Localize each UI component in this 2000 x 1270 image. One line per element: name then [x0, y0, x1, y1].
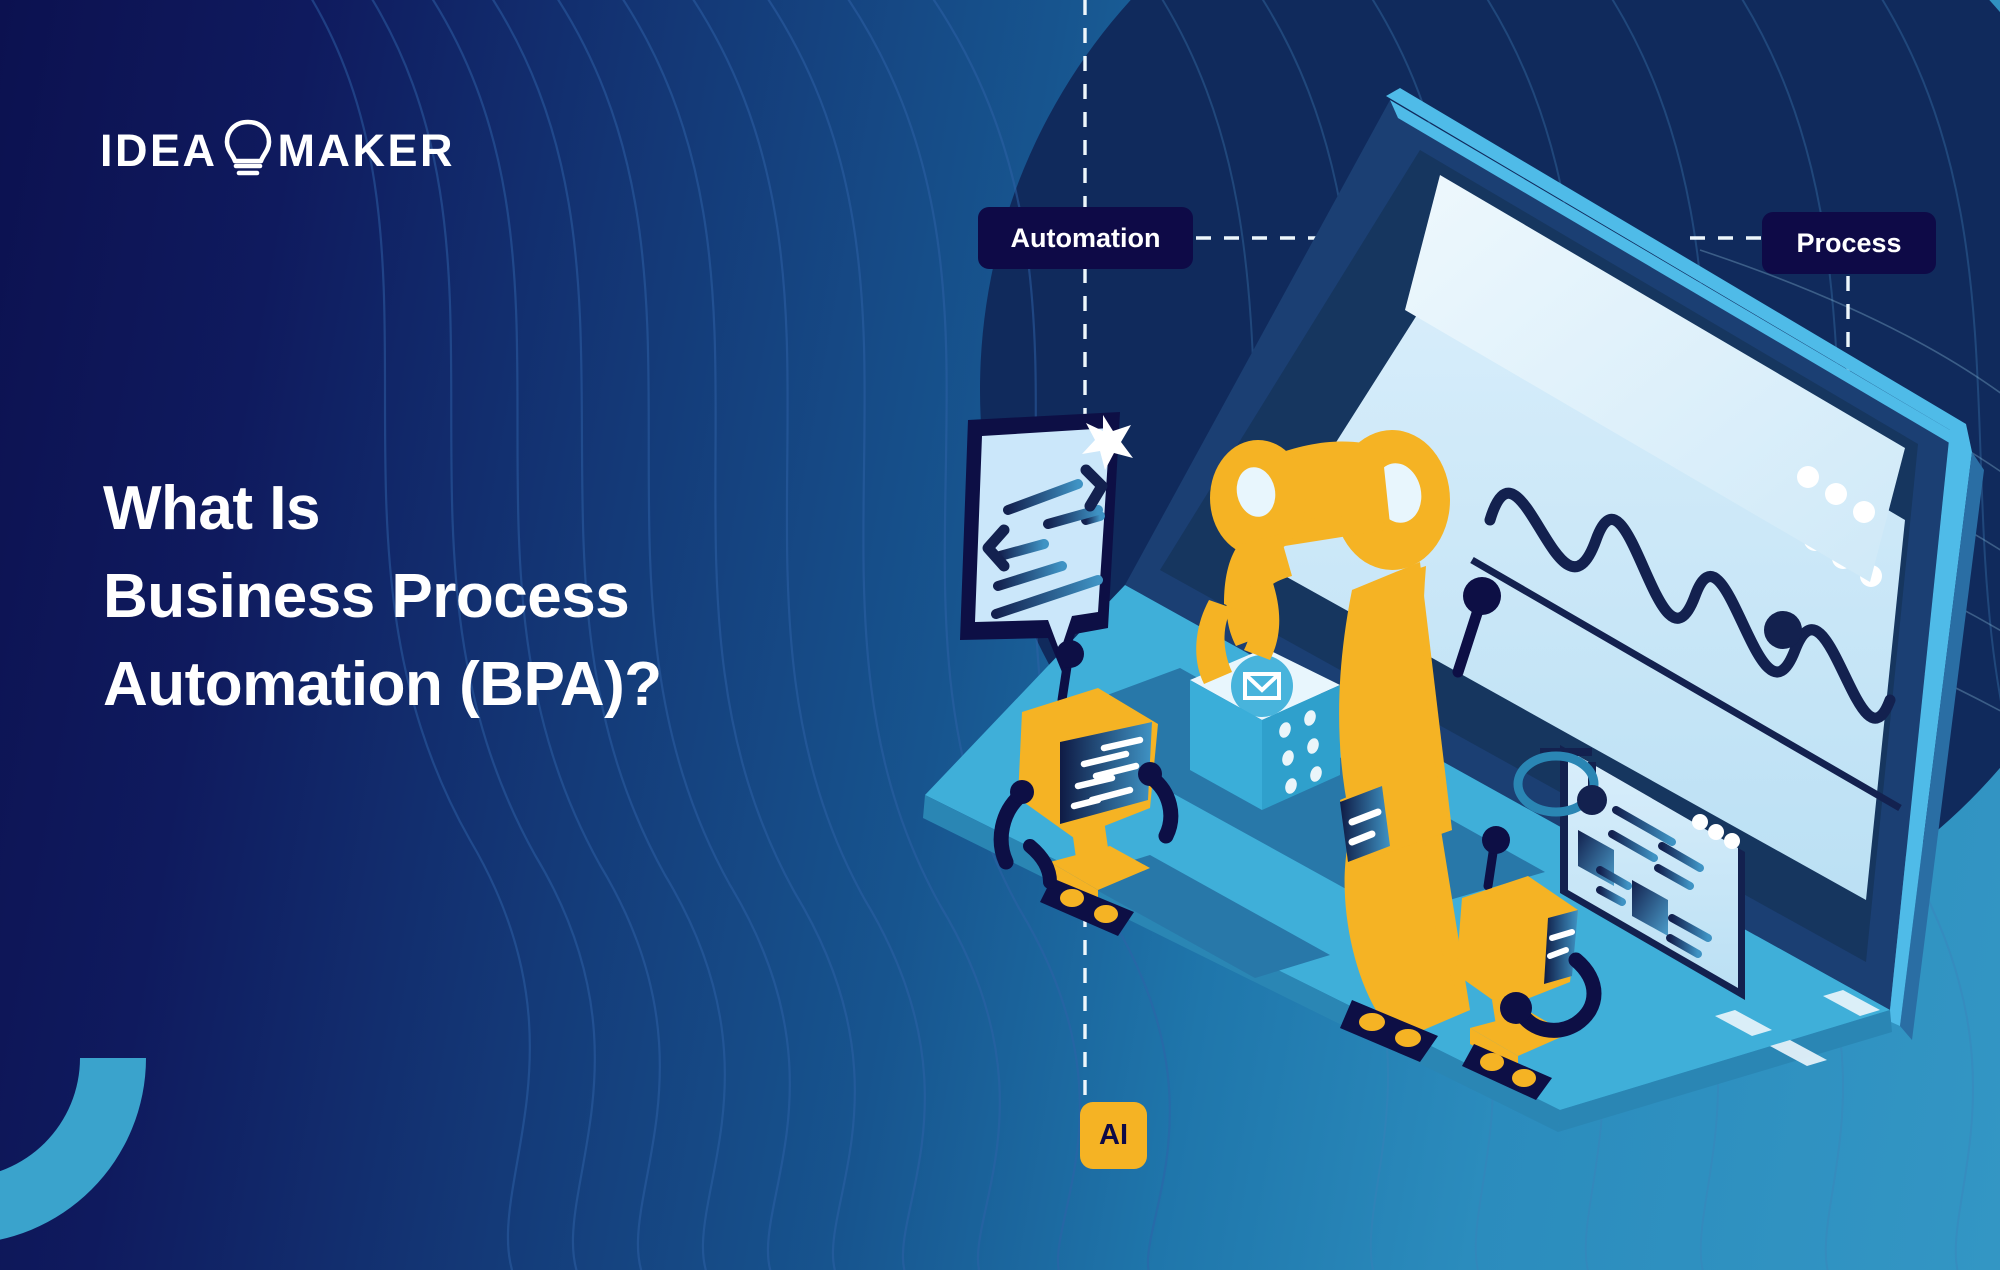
- lightbulb-icon: [222, 118, 274, 182]
- badge-automation[interactable]: Automation: [978, 207, 1193, 269]
- page-title: What Is Business Process Automation (BPA…: [103, 465, 963, 729]
- page-title-line-1: What Is: [103, 465, 963, 553]
- poster-canvas: IDEA MAKER What Is Business Process Auto…: [0, 0, 2000, 1270]
- page-title-line-2: Business Process: [103, 553, 963, 641]
- badge-process[interactable]: Process: [1762, 212, 1936, 274]
- brand-logo[interactable]: IDEA MAKER: [100, 118, 455, 182]
- logo-text-idea: IDEA: [100, 128, 218, 173]
- page-title-line-3: Automation (BPA)?: [103, 641, 963, 729]
- logo-text-maker: MAKER: [278, 128, 456, 173]
- badge-ai[interactable]: AI: [1080, 1102, 1147, 1169]
